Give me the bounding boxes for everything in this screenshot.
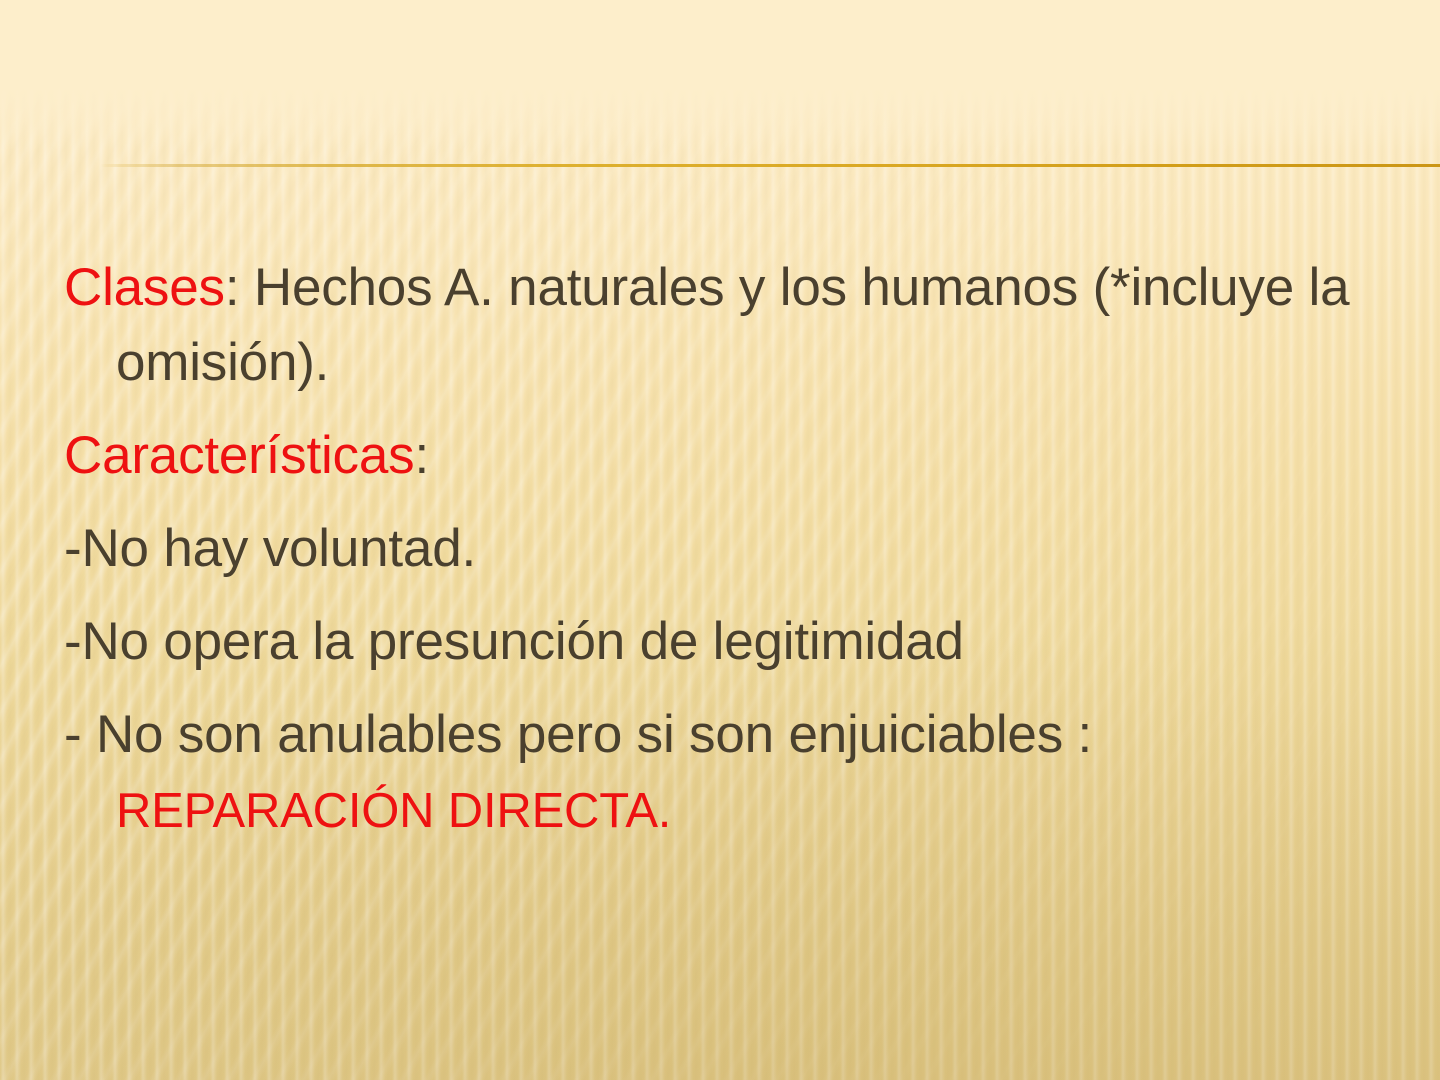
paragraph-caracteristicas: Características: <box>64 418 1384 493</box>
text-caracteristicas-rest: : <box>414 426 429 485</box>
paragraph-clases: Clases: Hechos A. naturales y los humano… <box>64 250 1384 400</box>
slide-canvas: Clases: Hechos A. naturales y los humano… <box>0 0 1440 1080</box>
text-anulables: - No son anulables pero si son enjuiciab… <box>64 705 1107 764</box>
text-clases-rest: : Hechos A. naturales y los humanos (*in… <box>116 258 1364 392</box>
gold-divider-rule <box>0 164 1440 167</box>
bullet-no-opera-presuncion: -No opera la presunción de legitimidad <box>64 604 1384 679</box>
label-caracteristicas: Características <box>64 426 414 485</box>
bullet-no-hay-voluntad: -No hay voluntad. <box>64 511 1384 586</box>
text-reparacion-directa: REPARACIÓN DIRECTA. <box>116 784 671 838</box>
bullet-no-son-anulables: - No son anulables pero si son enjuiciab… <box>64 697 1384 849</box>
slide-body-text: Clases: Hechos A. naturales y los humano… <box>64 250 1384 863</box>
label-clases: Clases <box>64 258 225 317</box>
